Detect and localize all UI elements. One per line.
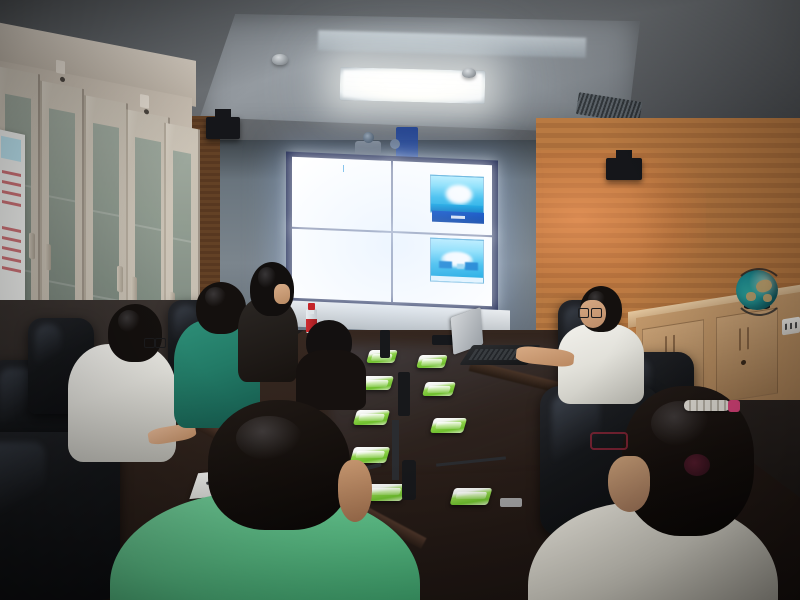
green-name-placard[interactable] <box>430 418 467 433</box>
credenza-handle[interactable] <box>747 327 749 349</box>
video-wall-grid <box>292 157 492 306</box>
slide-caption-bar <box>432 211 484 224</box>
cabinet-lock-icon[interactable] <box>144 109 149 115</box>
wall-speaker-left-icon <box>206 117 240 139</box>
green-name-placard[interactable] <box>416 355 448 368</box>
attendee-head <box>208 400 350 530</box>
video-wall-panel <box>393 161 492 235</box>
hair-clip-accent <box>728 400 740 412</box>
attendee-head <box>108 304 162 362</box>
slide-image-sky <box>430 175 484 215</box>
green-name-placard[interactable] <box>353 410 390 425</box>
globe-meridian-ring <box>733 268 785 316</box>
credenza-handle[interactable] <box>739 328 741 350</box>
credenza-knob[interactable] <box>741 360 746 366</box>
attendee-face <box>274 284 290 304</box>
remote-control[interactable] <box>500 498 522 507</box>
conference-microphone[interactable] <box>402 460 416 500</box>
conference-microphone[interactable] <box>380 330 390 358</box>
hair-tie <box>684 454 710 476</box>
video-wall-panel <box>292 228 391 302</box>
video-wall-display[interactable] <box>286 152 498 314</box>
cabinet-lock-icon[interactable] <box>60 76 65 82</box>
slide-tick-mark <box>343 165 344 172</box>
video-wall-panel <box>393 233 492 307</box>
credenza-door[interactable] <box>716 308 778 404</box>
eyeglasses-icon <box>578 308 602 317</box>
attendee-torso <box>68 344 176 462</box>
pink-hair-clip <box>684 400 730 411</box>
microphone-stem <box>392 420 399 480</box>
smoke-detector-icon <box>462 68 476 78</box>
conference-microphone[interactable] <box>398 372 410 416</box>
attendee-neck <box>338 460 372 522</box>
attendee-ear-face <box>608 456 650 512</box>
attendee-torso <box>296 350 366 410</box>
slide-image-diagram <box>430 237 484 283</box>
cabinet-hinge <box>140 94 149 109</box>
wall-power-outlet[interactable] <box>782 317 800 336</box>
green-name-placard[interactable] <box>422 382 456 396</box>
conference-room-photo <box>0 0 800 600</box>
cabinet-handle[interactable] <box>45 244 51 271</box>
wall-notice-poster <box>0 129 25 320</box>
smoke-detector-icon <box>272 54 288 65</box>
eyeglasses-icon <box>590 432 628 450</box>
wall-speaker-right-icon <box>606 158 642 180</box>
cabinet-handle[interactable] <box>117 266 123 293</box>
green-name-placard[interactable] <box>450 488 493 505</box>
cabinet-hinge <box>56 60 65 75</box>
cabinet-handle[interactable] <box>29 232 35 259</box>
video-wall-panel <box>292 157 391 231</box>
eyeglasses-icon <box>144 338 166 347</box>
